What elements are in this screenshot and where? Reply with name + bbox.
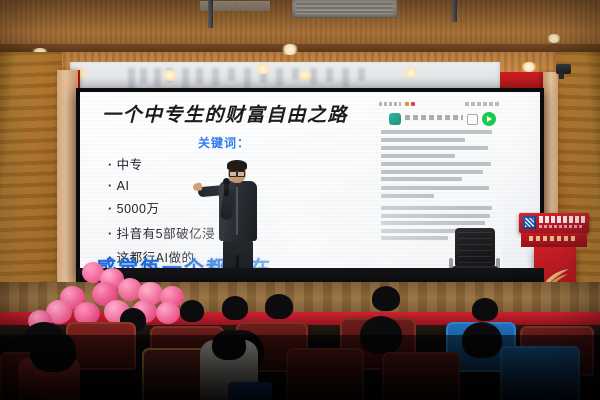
air-conditioning-vent [292,0,397,18]
share-icon [467,114,478,125]
recessed-ceiling-light [402,68,420,78]
audience-head [472,298,498,321]
phone-paragraph [381,186,497,201]
company-logo-icon [523,216,536,229]
glasses-icon [229,170,245,175]
phone-paragraph [381,146,497,161]
audience-person-shirt [228,382,272,400]
podium-tagline-band [521,233,587,247]
audience-head [265,294,293,319]
podium-brand-subtext [539,225,583,228]
audience-head [30,330,76,372]
slide-subtitle: 关键词： [198,134,250,151]
audience-seat[interactable] [500,346,580,400]
speaker-hair [227,160,247,170]
slide-title: 一个中专生的财富自由之路 [102,100,382,127]
recessed-ceiling-light [296,70,314,80]
phone-app-bar [380,112,498,126]
app-icon [389,113,401,125]
stage-chair-back [455,228,495,268]
recessed-ceiling-light [160,70,180,81]
recessed-ceiling-light [520,62,538,72]
security-camera-icon [556,64,571,74]
audience-head [372,286,400,311]
audience-head [462,322,502,358]
audience-head [222,296,248,320]
ceiling-hanger-rod [452,0,457,22]
audience-seat[interactable] [382,352,460,400]
recessed-ceiling-light [254,64,272,74]
recessed-ceiling-light [546,34,562,43]
podium-brand-text [539,216,585,223]
podium-header-sign [519,213,589,233]
audience-head [360,316,402,354]
audience-head [212,330,246,360]
phone-paragraph [381,162,497,185]
phone-paragraph [381,130,497,145]
microphone-icon [224,182,229,196]
audience-seat[interactable] [286,348,364,400]
auditorium-photo: 一个中专生的财富自由之路 关键词： 中专 AI 5000万 抖音有5部破亿浸 这… [0,0,600,400]
ceiling-hanger-rod [208,0,213,28]
audience-head [180,300,204,322]
recessed-ceiling-light [280,44,300,55]
play-icon [482,112,496,126]
balloon [156,302,180,324]
phone-status-bar [379,101,499,108]
